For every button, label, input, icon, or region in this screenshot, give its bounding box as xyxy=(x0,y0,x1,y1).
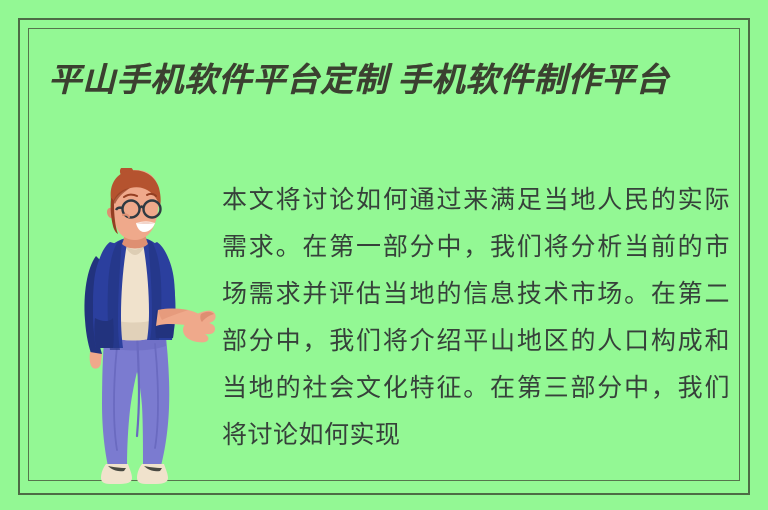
standing-person-illustration xyxy=(60,168,225,490)
page-title: 平山手机软件平台定制 手机软件制作平台 xyxy=(48,58,738,105)
article-body-text: 本文将讨论如何通过来满足当地人民的实际需求。在第一部分中，我们将分析当前的市场需… xyxy=(222,176,730,458)
article-banner: 平山手机软件平台定制 手机软件制作平台 xyxy=(0,0,768,510)
